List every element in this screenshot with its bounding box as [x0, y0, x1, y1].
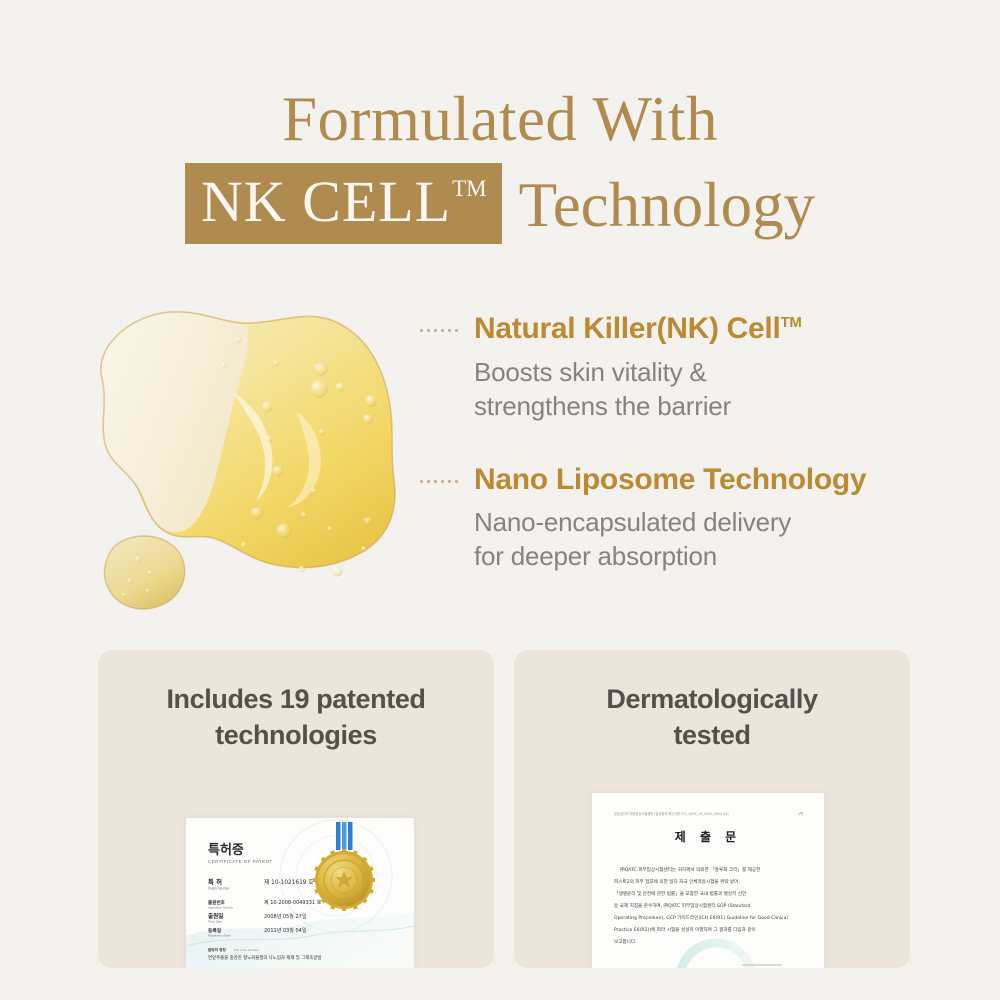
svg-text:Patent Number: Patent Number [208, 887, 230, 891]
svg-text:Registration Date: Registration Date [208, 933, 231, 937]
feature-description: Nano-encapsulated delivery for deeper ab… [474, 505, 978, 573]
svg-text:1쪽: 1쪽 [798, 812, 803, 816]
svg-text:연잎추출물 중강된 항노화물질의 나노입자 제제 및 그제조: 연잎추출물 중강된 항노화물질의 나노입자 제제 및 그제조방법 [208, 954, 321, 961]
dermatology-test-report-image: 유효성이의 피부임상시험센터 (검교정직 확인사항 TCC_QATC_01_00… [592, 793, 824, 968]
svg-text:제 출 문: 제 출 문 [675, 829, 741, 844]
headline-line-2: NK CELLTM Technology [0, 163, 1000, 244]
feature-body: Nano Liposome Technology Nano-encapsulat… [418, 463, 978, 574]
svg-text:2011년 03월 04일: 2011년 03월 04일 [264, 927, 307, 934]
feature-title: Natural Killer(NK) CellTM [474, 312, 978, 346]
svg-text:발명의 명칭: 발명의 명칭 [208, 947, 226, 952]
dotted-leader-icon [418, 480, 460, 483]
svg-text:특 허: 특 허 [208, 877, 222, 886]
card-title: Dermatologically tested [514, 682, 910, 754]
feature-title: Nano Liposome Technology [474, 463, 978, 497]
headline-block: Formulated With NK CELLTM Technology [0, 88, 1000, 244]
feature-title-tm: TM [781, 314, 802, 331]
card-title: Includes 19 patented technologies [98, 682, 494, 754]
dotted-leader-icon [418, 329, 460, 332]
feature-list: Natural Killer(NK) CellTM Boosts skin vi… [418, 312, 978, 573]
card-patented-technologies: Includes 19 patented technologies [98, 650, 494, 968]
nk-cell-badge-tm: TM [452, 177, 487, 200]
svg-text:피스트2의 피부 첩포에 의한 일차 자극 인체적용시험을: 피스트2의 피부 첩포에 의한 일차 자극 인체적용시험을 위탁 받아, [614, 878, 740, 885]
feature-item-nk-cell: Natural Killer(NK) CellTM Boosts skin vi… [418, 312, 978, 423]
patent-certificate-image: 특허증 CERTIFICATE OF PATENT 특 허 Patent Num… [186, 818, 414, 968]
nk-cell-badge: NK CELLTM [185, 163, 502, 244]
svg-text:Practice E6(R2))에 따라 시험을 성실히 이: Practice E6(R2))에 따라 시험을 성실히 이행하여 그 결과를 … [614, 926, 756, 933]
feature-body: Natural Killer(NK) CellTM Boosts skin vi… [418, 312, 978, 423]
svg-text:「생명윤리 및 안전에 관한 법률」을 포함한 국내 법률과: 「생명윤리 및 안전에 관한 법률」을 포함한 국내 법률과 헬싱키 선언 [614, 890, 746, 897]
svg-text:보고합니다.: 보고합니다. [614, 938, 637, 945]
svg-text:제 10-1021619 호: 제 10-1021619 호 [264, 878, 314, 886]
card-dermatologically-tested: Dermatologically tested 유효성이의 피부임상시험센터 (… [514, 650, 910, 968]
headline-technology-word: Technology [519, 174, 816, 237]
proof-card-list: Includes 19 patented technologies [98, 650, 910, 968]
marketing-page: Formulated With NK CELLTM Technology [0, 0, 1000, 1000]
svg-text:㈜QATC 피부임상시험센터는 귀하께서 의뢰한 「홍루화: ㈜QATC 피부임상시험센터는 귀하께서 의뢰한 「홍루화 크리」를 제공한 [620, 866, 761, 873]
svg-text:제 10-2008-0049331 호: 제 10-2008-0049331 호 [264, 899, 322, 906]
svg-text:Filing Date: Filing Date [208, 920, 222, 924]
svg-text:등 국제 지침을 준수하여, ㈜QATC 피부임상시험센터: 등 국제 지침을 준수하여, ㈜QATC 피부임상시험센터 SOP (Stand… [614, 902, 751, 909]
feature-title-text: Natural Killer(NK) Cell [474, 312, 781, 345]
headline-line-1: Formulated With [0, 88, 1000, 151]
feature-description: Boosts skin vitality & strengthens the b… [474, 355, 978, 423]
feature-title-text: Nano Liposome Technology [474, 463, 866, 496]
serum-oil-texture-swatch [38, 283, 438, 628]
nk-cell-badge-label: NK CELL [201, 173, 451, 231]
svg-text:Operating Procedure), GCP 가이드라: Operating Procedure), GCP 가이드라인(ICH E6(R… [614, 914, 788, 921]
svg-text:Application Number: Application Number [208, 906, 233, 910]
svg-text:Title of the Invention: Title of the Invention [234, 948, 260, 952]
svg-text:특허증: 특허증 [208, 842, 244, 858]
feature-item-nano-liposome: Nano Liposome Technology Nano-encapsulat… [418, 463, 978, 574]
svg-text:유효성이의 피부임상시험센터 (검교정직 확인사항 TCC: 유효성이의 피부임상시험센터 (검교정직 확인사항 TCC_QATC_01_00… [614, 811, 729, 816]
svg-text:CERTIFICATE OF PATENT: CERTIFICATE OF PATENT [208, 859, 272, 864]
svg-text:2008년 05월 27일: 2008년 05월 27일 [264, 913, 307, 920]
